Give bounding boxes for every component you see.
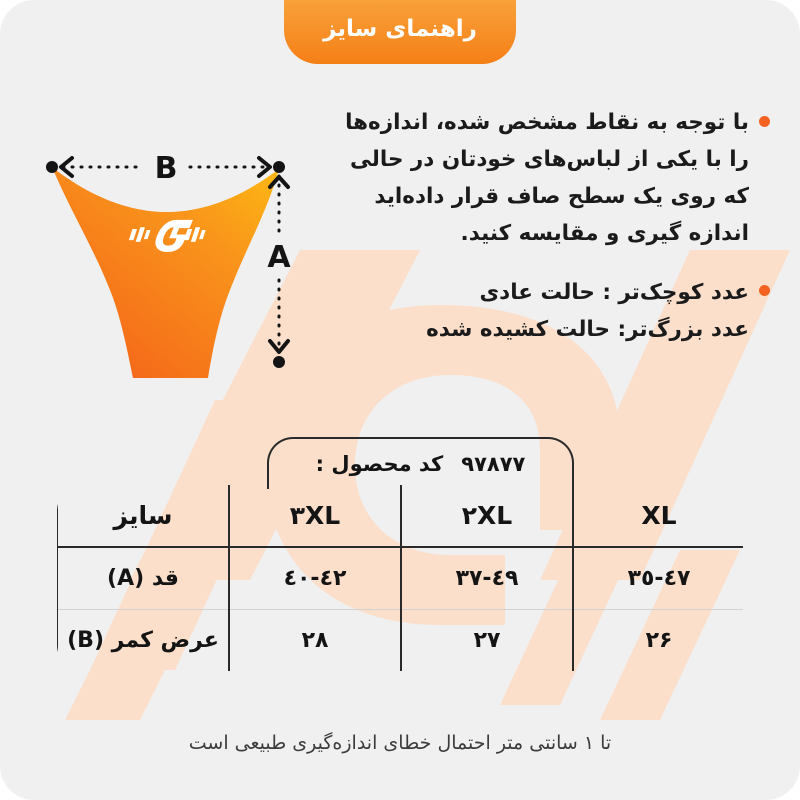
garment-measurement-diagram: B A <box>30 140 330 400</box>
measurement-tolerance-note: تا ۱ سانتی متر احتمال خطای اندازه‌گیری ط… <box>0 732 800 754</box>
instruction-line: عدد بزرگ‌تر: حالت کشیده شده <box>300 311 749 348</box>
column-header-xl: XL <box>573 484 745 547</box>
column-header-2xl: ۲XL <box>401 484 573 547</box>
size-table-body: ٤٧-٣٥ ٤٩-٣٧ ٤٢-٤٠ قد (A) ۲۶ ۲۷ ۲۸ عرض کم… <box>57 547 745 672</box>
instruction-bullet-1-body: با توجه به نقاط مشخص شده، اندازه‌ها را ب… <box>300 104 749 252</box>
column-header-3xl: ۳XL <box>229 484 401 547</box>
instruction-bullet-1: با توجه به نقاط مشخص شده، اندازه‌ها را ب… <box>300 104 770 252</box>
instruction-line: که روی یک سطح صاف قرار داده‌اید <box>300 178 749 215</box>
size-table-container: XL ۲XL ۳XL سایز ٤٧-٣٥ ٤٩-٣٧ ٤٢-٤٠ قد (A)… <box>55 483 745 668</box>
instructions-block: با توجه به نقاط مشخص شده، اندازه‌ها را ب… <box>300 104 770 348</box>
instruction-line: اندازه گیری و مقایسه کنید. <box>300 215 749 252</box>
measure-b-guide: B <box>46 151 285 186</box>
column-header-size: سایز <box>57 484 229 547</box>
size-guide-card: راهنمای سایز با توجه به نقاط مشخص شده، ا… <box>0 0 800 800</box>
row-header-length: قد (A) <box>57 547 229 610</box>
instruction-bullet-2-body: عدد کوچک‌تر : حالت عادی عدد بزرگ‌تر: حال… <box>300 274 749 348</box>
garment-shape <box>52 167 279 378</box>
cell-waist-2xl: ۲۷ <box>401 610 573 673</box>
table-row: ۲۶ ۲۷ ۲۸ عرض کمر (B) <box>57 610 745 673</box>
cell-length-3xl: ٤٢-٤٠ <box>229 547 401 610</box>
measure-a-guide: A <box>267 176 291 368</box>
cell-length-2xl: ٤٩-٣٧ <box>401 547 573 610</box>
cell-length-xl: ٤٧-٣٥ <box>573 547 745 610</box>
measure-b-label: B <box>155 151 178 186</box>
instruction-bullet-2: عدد کوچک‌تر : حالت عادی عدد بزرگ‌تر: حال… <box>300 274 770 348</box>
cell-waist-3xl: ۲۸ <box>229 610 401 673</box>
size-table: XL ۲XL ۳XL سایز ٤٧-٣٥ ٤٩-٣٧ ٤٢-٤٠ قد (A)… <box>55 483 745 673</box>
badge-title: راهنمای سایز <box>323 18 477 47</box>
bullet-dot-icon <box>759 285 770 296</box>
product-code-label: کد محصول : <box>316 452 444 476</box>
product-code-pill: ۹۷۸۷۷ کد محصول : <box>267 437 574 489</box>
instruction-line: را با یکی از لباس‌های خودتان در حالی <box>300 141 749 178</box>
table-row: ٤٧-٣٥ ٤٩-٣٧ ٤٢-٤٠ قد (A) <box>57 547 745 610</box>
row-header-waist: عرض کمر (B) <box>57 610 229 673</box>
measure-a-label: A <box>267 240 291 275</box>
table-header-row: XL ۲XL ۳XL سایز <box>57 484 745 547</box>
instruction-line: عدد کوچک‌تر : حالت عادی <box>300 274 749 311</box>
size-guide-badge: راهنمای سایز <box>284 0 516 64</box>
instruction-line: با توجه به نقاط مشخص شده، اندازه‌ها <box>300 104 749 141</box>
cell-waist-xl: ۲۶ <box>573 610 745 673</box>
product-code-value: ۹۷۸۷۷ <box>461 452 525 476</box>
bullet-dot-icon <box>759 116 770 127</box>
size-table-head: XL ۲XL ۳XL سایز <box>57 484 745 547</box>
